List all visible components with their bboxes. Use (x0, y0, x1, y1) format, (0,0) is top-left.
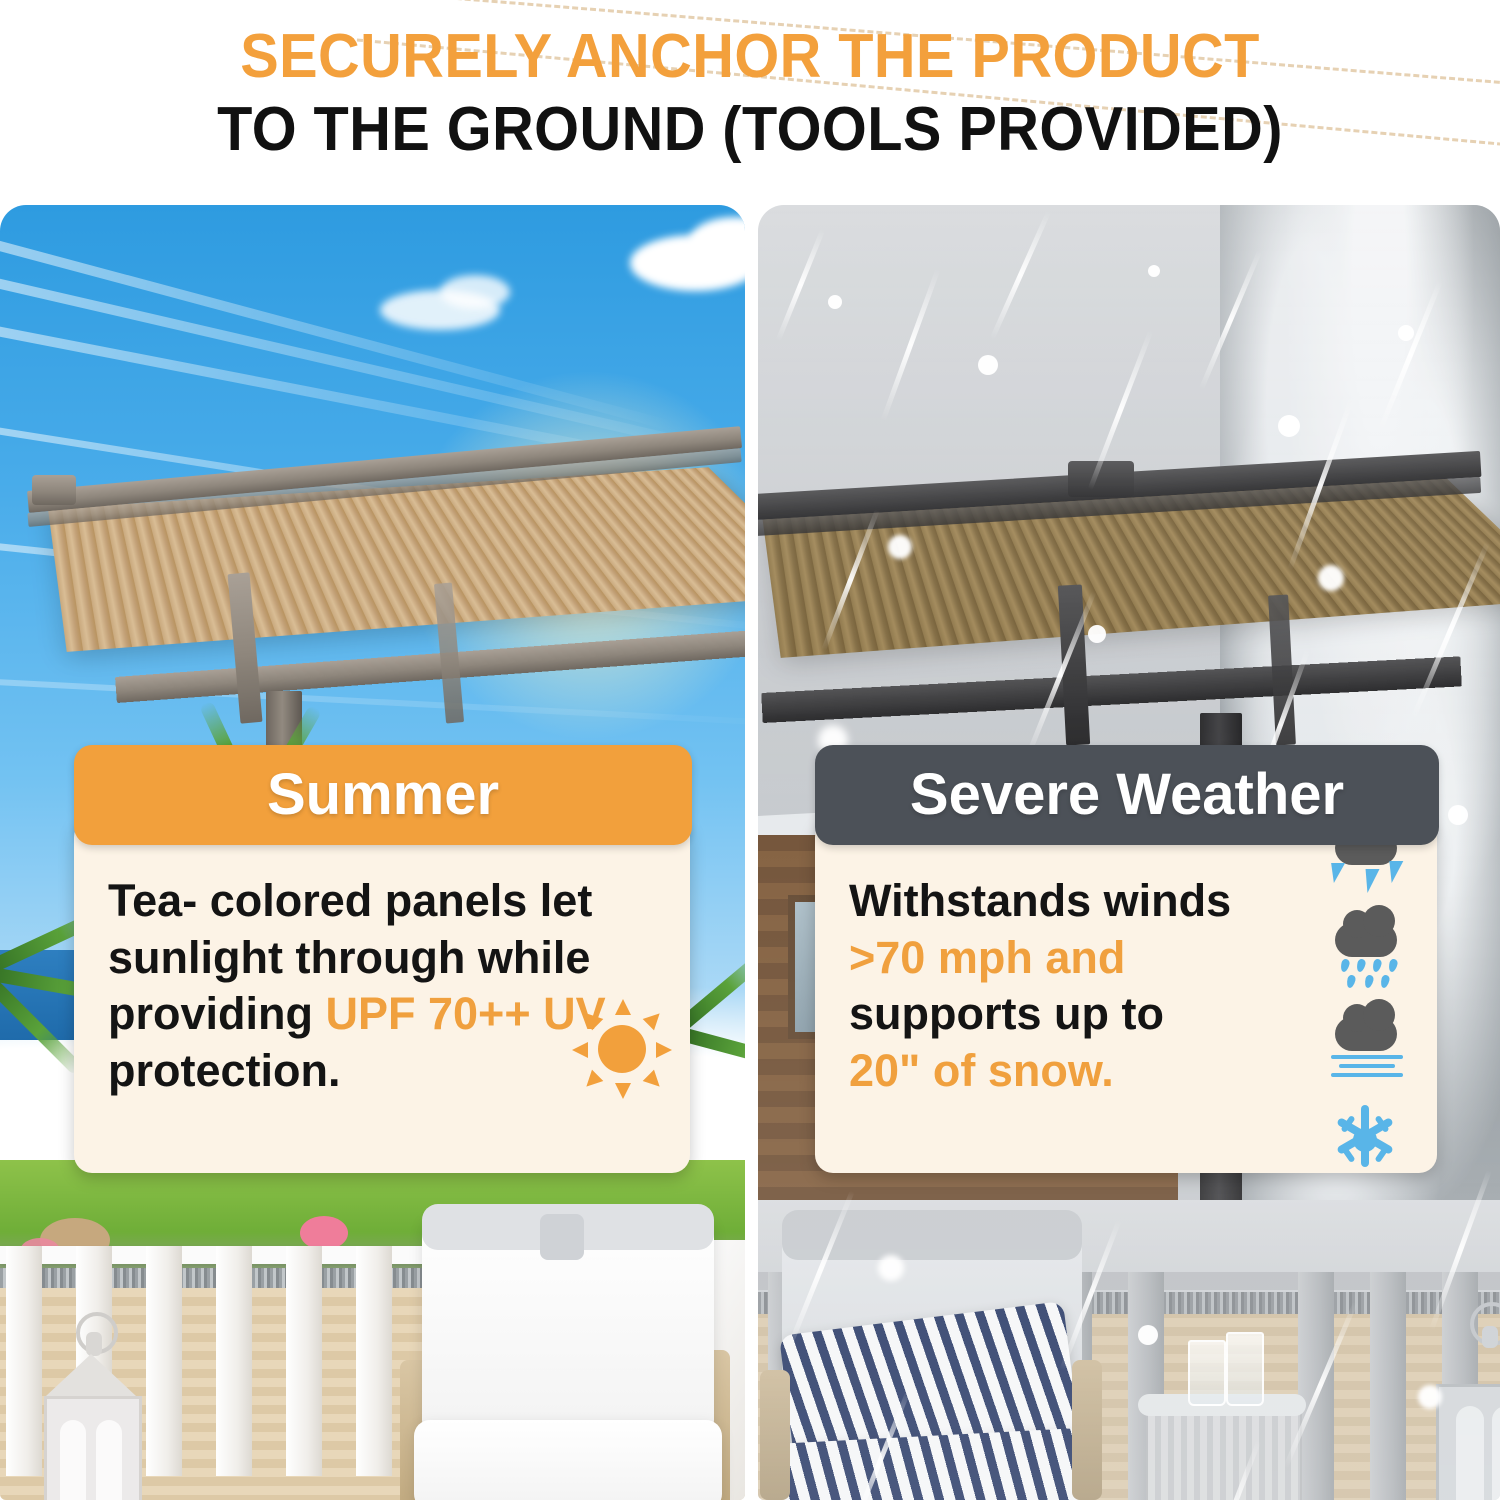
sun-icon (574, 1001, 670, 1097)
header-text-block: SECURELY ANCHOR THE PRODUCT TO THE GROUN… (0, 0, 1500, 162)
lantern-roof (46, 1354, 136, 1396)
lantern-pane (96, 1420, 122, 1500)
snowflake-particle (888, 535, 912, 559)
summer-copy-highlight: UPF 70++ UV (326, 988, 606, 1039)
patio-lounge-chair (400, 1170, 730, 1500)
thunderstorm-icon-bolt (1385, 861, 1404, 883)
snowflake-icon-core (1353, 1128, 1377, 1152)
wind-cloud-icon-cloud (1335, 1017, 1397, 1051)
header-title-line-1: SECURELY ANCHOR THE PRODUCT (53, 24, 1448, 89)
sun-icon-ray (572, 1042, 588, 1058)
cloud (440, 275, 510, 309)
snowflake-particle (1398, 325, 1414, 341)
rain-cloud-icon-drop (1372, 958, 1383, 973)
wind-cloud-icon-line (1331, 1055, 1403, 1059)
chair-seat-cushion (414, 1420, 722, 1500)
rain-cloud-icon-drop (1364, 974, 1375, 989)
product-feature-graphic: SECURELY ANCHOR THE PRODUCT TO THE GROUN… (0, 0, 1500, 1500)
sun-icon-ray (581, 1008, 604, 1031)
sun-icon-ray (615, 1083, 631, 1099)
railing-baluster (146, 1246, 182, 1476)
severe-copy-highlight-1: >70 mph and (849, 932, 1125, 983)
railing-baluster (216, 1246, 252, 1476)
snowflake-particle (978, 355, 998, 375)
weather-icon-column (1307, 813, 1427, 1179)
card-summer-header: Summer (74, 745, 692, 845)
summer-copy-line-4: protection. (108, 1045, 341, 1096)
rain-cloud-icon (1317, 909, 1417, 993)
railing-baluster (286, 1246, 322, 1476)
card-severe-weather-body: Withstands winds >70 mph and supports up… (815, 819, 1437, 1173)
card-severe-weather-title: Severe Weather (815, 766, 1439, 824)
card-severe-weather-header: Severe Weather (815, 745, 1439, 845)
snowflake-particle (1138, 1325, 1158, 1345)
card-severe-weather-copy: Withstands winds >70 mph and supports up… (815, 873, 1289, 1100)
lantern-body (44, 1396, 142, 1500)
header-banner: SECURELY ANCHOR THE PRODUCT TO THE GROUN… (0, 0, 1500, 205)
snowflake-particle (878, 1255, 904, 1281)
severe-copy-line-3: supports up to (849, 988, 1164, 1039)
card-summer-body: Tea- colored panels let sunlight through… (74, 819, 690, 1173)
header-title-line-2: TO THE GROUND (TOOLS PROVIDED) (53, 97, 1448, 162)
flower-bed (300, 1216, 348, 1250)
snowflake-particle (828, 295, 842, 309)
card-summer-title: Summer (74, 766, 692, 824)
wind-cloud-icon-line (1331, 1073, 1403, 1077)
snowflake-particle (1148, 265, 1160, 277)
snowflake-particle (1448, 805, 1468, 825)
rain-cloud-icon-drop (1346, 974, 1357, 989)
rain-cloud-icon-cloud (1335, 923, 1397, 957)
sun-icon-ray (615, 999, 631, 1015)
summer-copy-line-3: providing (108, 988, 326, 1039)
deck-lantern (36, 1328, 146, 1500)
thunderstorm-icon-bolt (1360, 869, 1379, 893)
snowflake-particle (1278, 415, 1300, 437)
thunderstorm-icon-bolt (1327, 863, 1345, 883)
wind-cloud-icon (1317, 1005, 1417, 1081)
lantern-pane (60, 1420, 86, 1500)
sun-icon-ray (581, 1070, 604, 1093)
rain-cloud-icon-drop (1340, 958, 1351, 973)
sun-icon-disc (598, 1025, 646, 1073)
card-severe-weather: Severe Weather Withstands winds >70 mph … (815, 745, 1439, 1173)
card-summer: Summer Tea- colored panels let sunlight … (74, 745, 692, 1173)
wind-cloud-icon-line (1339, 1064, 1395, 1068)
summer-deck (0, 1160, 745, 1500)
sun-icon-ray (643, 1008, 666, 1031)
snowflake-particle (1318, 565, 1344, 591)
sun-icon-ray (656, 1042, 672, 1058)
panel-row: Summer Tea- colored panels let sunlight … (0, 205, 1500, 1500)
snowflake-particle (1088, 625, 1106, 643)
railing-baluster (356, 1246, 392, 1476)
rain-cloud-icon-drop (1380, 974, 1391, 989)
severe-copy-highlight-2: 20" of snow. (849, 1045, 1114, 1096)
snowflake-icon (1317, 1097, 1417, 1173)
chair-strap (540, 1214, 584, 1260)
summer-copy-line-1: Tea- colored panels let (108, 875, 592, 926)
severe-copy-line-1: Withstands winds (849, 875, 1231, 926)
sun-icon-ray (643, 1070, 666, 1093)
rain-cloud-icon-drop (1356, 958, 1367, 973)
lantern-knob (86, 1332, 102, 1356)
panel-severe-weather: Severe Weather Withstands winds >70 mph … (758, 205, 1500, 1500)
snowflake-particle (1418, 1385, 1442, 1409)
summer-copy-line-2: sunlight through while (108, 932, 590, 983)
panel-summer: Summer Tea- colored panels let sunlight … (0, 205, 745, 1500)
pergola-end-cap (32, 475, 76, 505)
rain-cloud-icon-drop (1388, 958, 1399, 973)
